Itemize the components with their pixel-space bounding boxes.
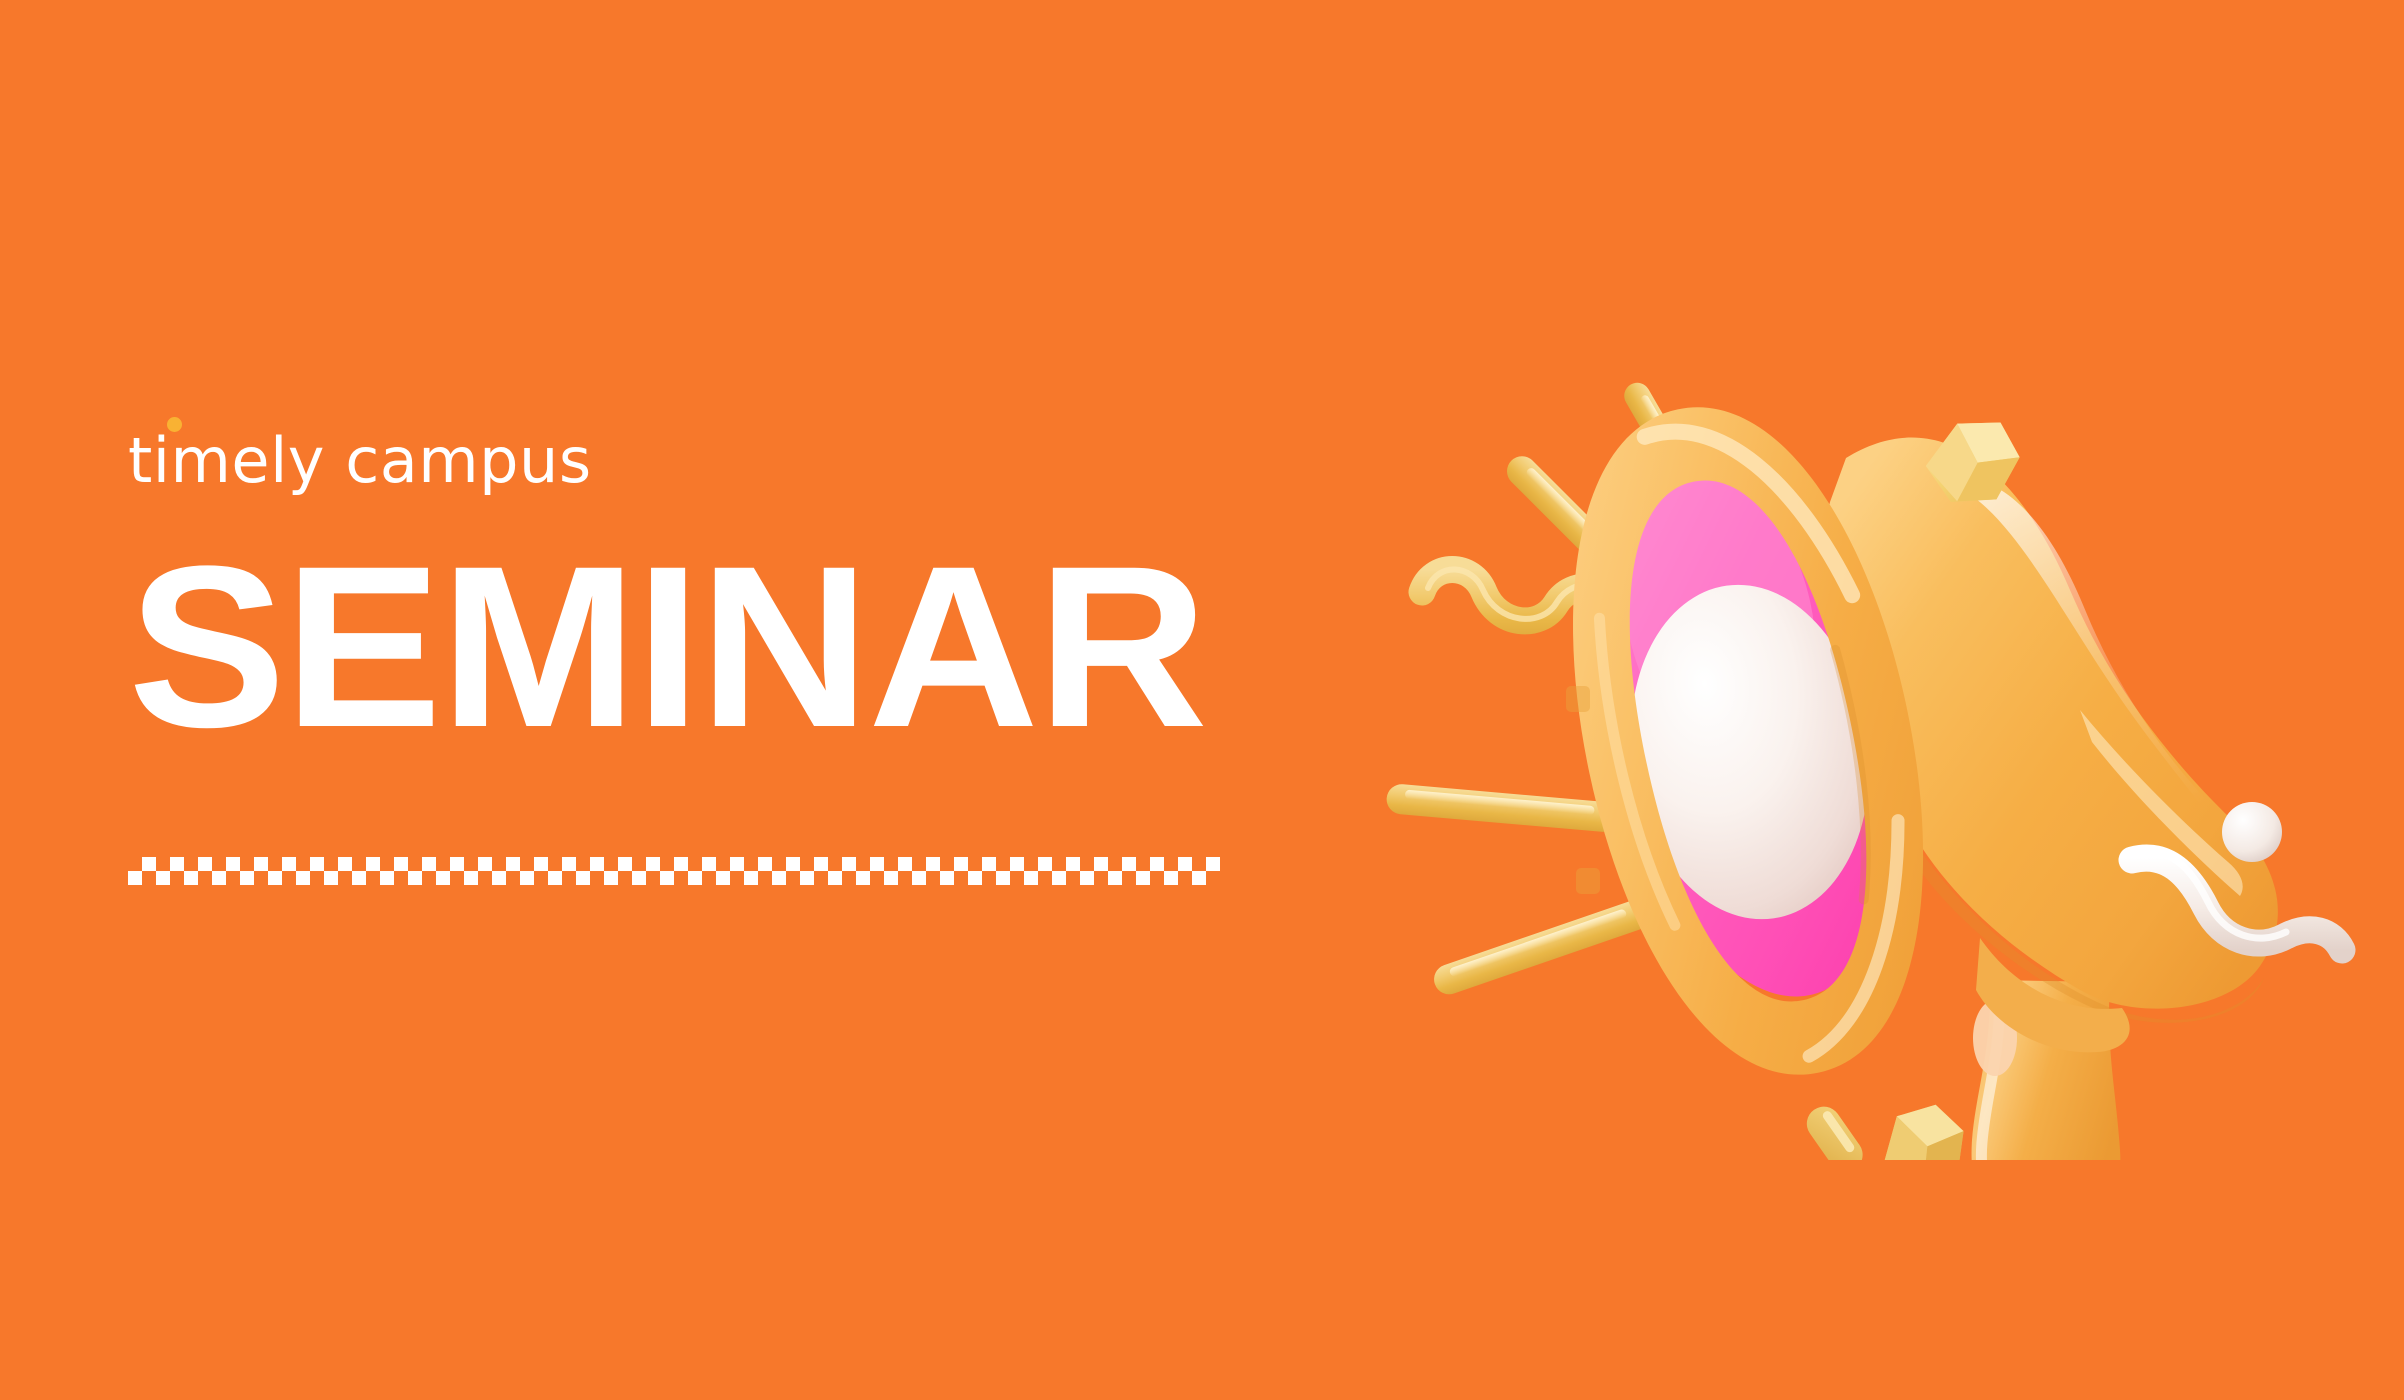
logo-dot-icon xyxy=(167,417,182,432)
text-block: timely campus SEMINAR xyxy=(128,430,1328,746)
megaphone-illustration xyxy=(1380,290,2404,1160)
checkerboard-divider xyxy=(128,857,1220,885)
capsule-bottom-small xyxy=(1800,1100,1869,1160)
page-title: SEMINAR xyxy=(128,548,1364,746)
white-ball xyxy=(2222,802,2282,862)
brand-logo-text: timely campus xyxy=(128,424,592,497)
seminar-banner: timely campus SEMINAR xyxy=(0,0,2404,1400)
brand-logo: timely campus xyxy=(128,430,592,492)
cube-bottom xyxy=(1876,1101,1971,1160)
